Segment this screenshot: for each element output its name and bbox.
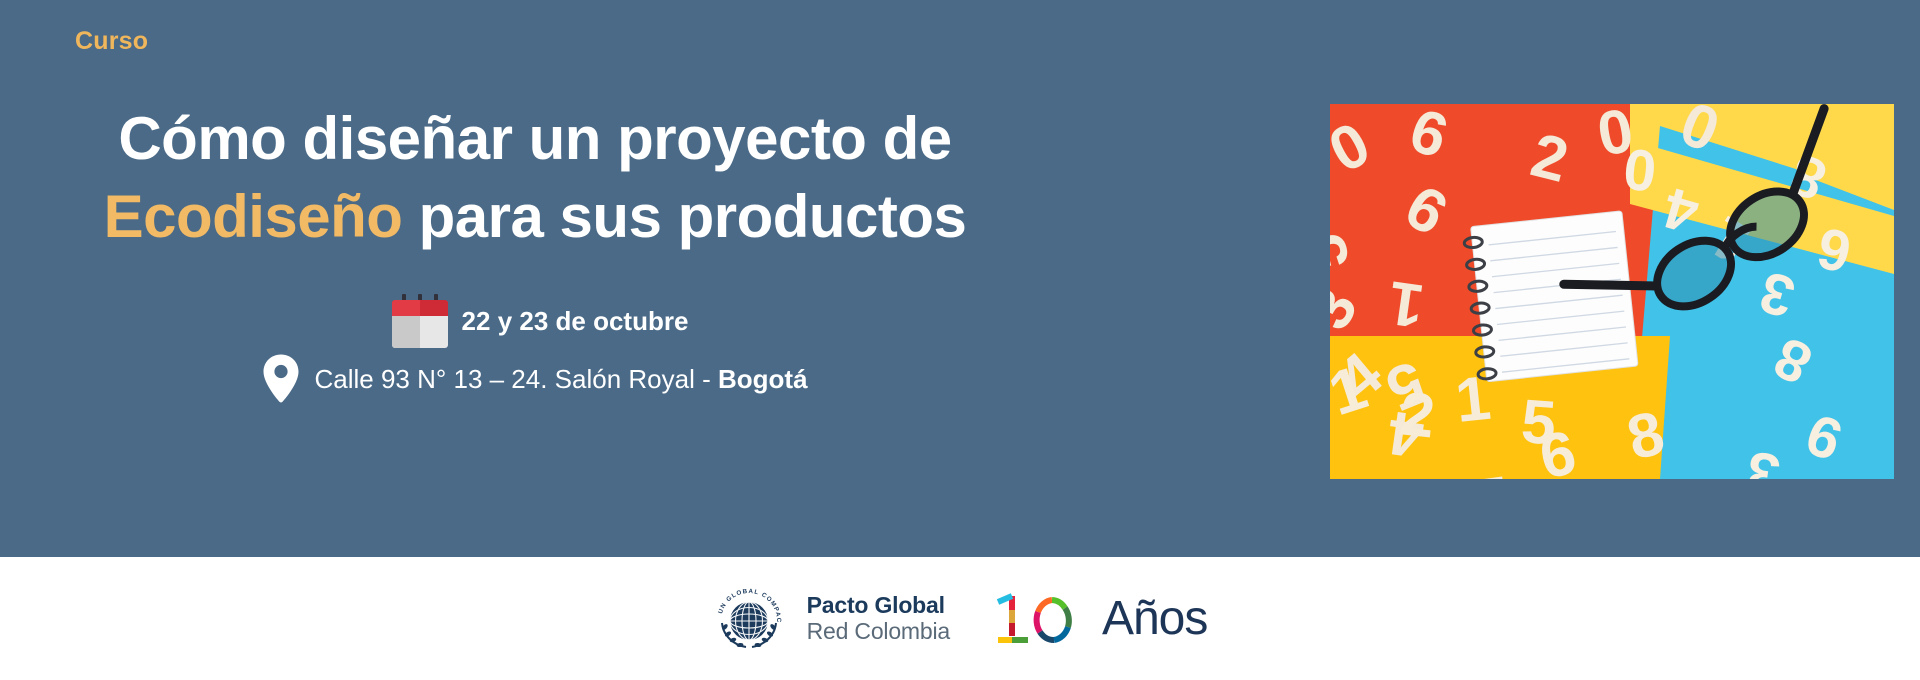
event-date-text: 22 y 23 de octubre	[462, 306, 689, 337]
headline-accent-word: Ecodiseño	[104, 183, 403, 250]
svg-text:2: 2	[1397, 379, 1439, 451]
hero-banner: Curso Cómo diseñar un proyecto de Ecodis…	[0, 0, 1920, 557]
organisation-name: Pacto Global Red Colombia	[807, 593, 950, 645]
eyebrow-label: Curso	[75, 27, 148, 56]
footer-logo-strip: UN GLOBAL COMPACT	[0, 557, 1920, 680]
page-title: Cómo diseñar un proyecto de Ecodiseño pa…	[0, 100, 1070, 256]
promo-banner-page: Curso Cómo diseñar un proyecto de Ecodis…	[0, 0, 1920, 680]
logo-lockup: UN GLOBAL COMPACT	[713, 583, 1208, 655]
headline-line-1: Cómo diseñar un proyecto de	[118, 105, 951, 172]
calendar-icon	[392, 294, 448, 348]
event-location-text: Calle 93 N° 13 – 24. Salón Royal - Bogot…	[314, 364, 807, 395]
organisation-line-1: Pacto Global	[807, 593, 950, 619]
un-global-compact-icon: UN GLOBAL COMPACT	[713, 583, 785, 655]
headline-line-2-rest: para sus productos	[402, 183, 966, 250]
hero-content: Cómo diseñar un proyecto de Ecodiseño pa…	[0, 100, 1070, 404]
event-location-row: Calle 93 N° 13 – 24. Salón Royal - Bogot…	[0, 354, 1070, 404]
event-meta: 22 y 23 de octubre Calle 93 N° 13 – 24. …	[0, 294, 1070, 404]
organisation-line-2: Red Colombia	[807, 619, 950, 645]
anniversary-word: Años	[1102, 591, 1207, 646]
map-pin-icon	[262, 354, 300, 404]
anniversary-number-icon	[990, 590, 1100, 648]
event-date-row: 22 y 23 de octubre	[0, 294, 1070, 348]
anniversary-lockup: Años	[990, 590, 1207, 648]
event-location-city: Bogotá	[718, 364, 808, 394]
event-location-address: Calle 93 N° 13 – 24. Salón Royal -	[314, 364, 718, 394]
svg-text:0: 0	[1620, 136, 1659, 204]
hero-photo: 0 6 9 2 5 1 3 5 4 4 0 0	[1330, 104, 1894, 479]
